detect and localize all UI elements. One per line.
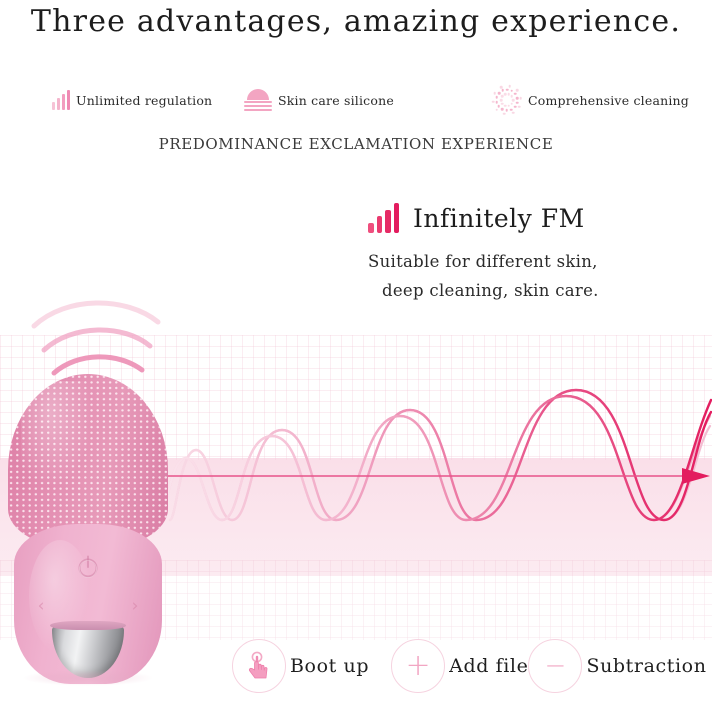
signal-bars-icon xyxy=(52,90,70,110)
ripple-arc-middle xyxy=(44,330,150,350)
feature-item-comprehensive-cleaning: Comprehensive cleaning xyxy=(492,85,689,115)
infinitely-fm-description: Suitable for different skin, deep cleani… xyxy=(368,248,698,306)
vibration-ripples-icon xyxy=(26,278,166,378)
infinitely-fm-block: Infinitely FM Suitable for different ski… xyxy=(368,200,698,306)
description-line-2: deep cleaning, skin care. xyxy=(368,277,698,306)
device-shadow xyxy=(22,670,154,686)
page-title: Three advantages, amazing experience. xyxy=(0,4,712,39)
next-icon[interactable]: › xyxy=(122,596,148,616)
device-silicone-head xyxy=(8,374,168,549)
ripple-arc-inner xyxy=(54,357,142,373)
infinitely-fm-heading: Infinitely FM xyxy=(368,200,698,236)
feature-label: Comprehensive cleaning xyxy=(528,93,689,108)
power-icon[interactable] xyxy=(68,554,108,580)
minus-glyph: − xyxy=(545,653,567,679)
bottom-control-legend: Boot up + Add file − Subtraction xyxy=(232,638,710,694)
base-rim xyxy=(50,621,126,630)
feature-item-unlimited-regulation: Unlimited regulation xyxy=(52,85,212,115)
ripple-arc-outer xyxy=(34,303,158,326)
plus-icon: + xyxy=(391,639,445,693)
silicone-dome-icon xyxy=(244,89,272,111)
legend-label: Boot up xyxy=(290,655,369,677)
previous-icon[interactable]: ‹ xyxy=(28,596,54,616)
page-subtitle: PREDOMINANCE EXCLAMATION EXPERIENCE xyxy=(0,135,712,153)
touch-hand-icon xyxy=(232,639,286,693)
head-highlight xyxy=(21,381,95,490)
legend-label: Add file xyxy=(449,655,528,677)
poster-canvas: Three advantages, amazing experience. Un… xyxy=(0,0,712,717)
signal-bars-icon xyxy=(368,203,399,233)
description-line-1: Suitable for different skin, xyxy=(368,252,598,271)
minus-icon: − xyxy=(528,639,582,693)
feature-label: Skin care silicone xyxy=(278,93,394,108)
legend-item-add-file: + Add file xyxy=(391,639,528,693)
product-device: ‹ › M xyxy=(8,278,198,698)
legend-item-subtraction: − Subtraction xyxy=(528,639,706,693)
plus-glyph: + xyxy=(406,651,431,681)
legend-item-boot-up: Boot up xyxy=(232,639,369,693)
infinitely-fm-title: Infinitely FM xyxy=(413,204,585,233)
radial-dots-icon xyxy=(492,85,522,115)
legend-label: Subtraction xyxy=(586,655,706,677)
feature-label: Unlimited regulation xyxy=(76,93,212,108)
axis-arrow-head xyxy=(682,468,710,484)
feature-item-skin-care-silicone: Skin care silicone xyxy=(244,85,394,115)
feature-list: Unlimited regulation Skin care silicone … xyxy=(52,85,697,115)
